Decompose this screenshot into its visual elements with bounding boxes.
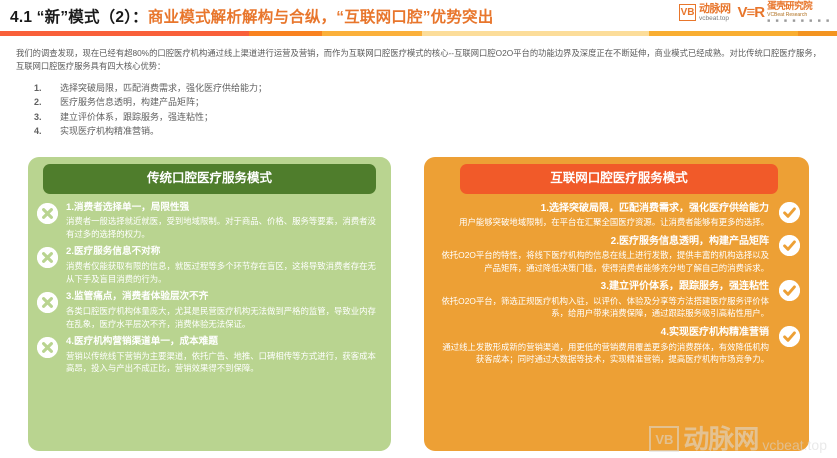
logo-vbresearch: V≡R 蛋壳研究院 VCBeat Research ■ ■ ■ ■ ■ ■ ■ … bbox=[738, 2, 831, 24]
item-body-text: 通过线上发散形成新的营销渠道，用更低的营销费用覆盖更多的消费群体，有效降低机构获… bbox=[436, 341, 769, 366]
list-item: 4.实现医疗机构精准营销通过线上发散形成新的营销渠道，用更低的营销费用覆盖更多的… bbox=[424, 322, 809, 368]
intro-numbered-list: 1.选择突破局限，匹配消费需求，强化医疗供给能力；2.医疗服务信息透明，构建产品… bbox=[34, 81, 837, 139]
item-body-text: 营销以传统线下营销为主要渠道，依托广告、地推、口碑相传等方式进行，获客成本高昂，… bbox=[66, 350, 379, 375]
list-item-number: 4. bbox=[34, 124, 60, 139]
logo-vcbeat: VB 动脉网 vcbeat.top bbox=[679, 4, 731, 23]
color-bar-segment-6 bbox=[798, 31, 837, 36]
item-heading: 1.选择突破局限，匹配消费需求，强化医疗供给能力 bbox=[436, 202, 769, 216]
cross-circle-icon bbox=[37, 247, 58, 268]
item-status-icon bbox=[37, 203, 58, 224]
item-status-icon bbox=[37, 247, 58, 268]
list-item: 3.建立评价体系，跟踪服务，强连粘性； bbox=[34, 110, 837, 125]
page-title-number: 4.1 bbox=[10, 9, 32, 26]
page-header: 4.1 “新”模式（2）：商业模式解析解构与合纵，“互联网口腔”优势突出 VB … bbox=[0, 0, 837, 31]
list-item: 2.医疗服务信息透明，构建产品矩阵依托O2O平台的特性，将线下医疗机构的信息在线… bbox=[424, 231, 809, 277]
panel-traditional-items: 1.消费者选择单一，局限性强消费者一般选择就近就医，受到地域限制。对于商品、价格… bbox=[28, 194, 391, 377]
item-heading: 3.建立评价体系，跟踪服务，强连粘性 bbox=[436, 280, 769, 294]
logo-vbresearch-cn: 蛋壳研究院 bbox=[767, 2, 831, 12]
check-circle-icon bbox=[779, 235, 800, 256]
color-bar-segment-1 bbox=[0, 31, 249, 36]
item-heading: 4.医疗机构营销渠道单一，成本难题 bbox=[66, 336, 379, 349]
color-bar-segment-3 bbox=[322, 31, 422, 36]
item-body-text: 消费者一般选择就近就医，受到地域限制。对于商品、价格、服务等要素，消费者没有过多… bbox=[66, 215, 379, 240]
ver-logo-icon: V≡R bbox=[738, 5, 765, 20]
color-bar-segment-2 bbox=[249, 31, 322, 36]
item-status-icon bbox=[779, 280, 800, 301]
panel-traditional: 传统口腔医疗服务模式 1.消费者选择单一，局限性强消费者一般选择就近就医，受到地… bbox=[28, 157, 391, 451]
logo-vbresearch-dots: ■ ■ ■ ■ ■ ■ ■ ■ bbox=[767, 19, 831, 24]
item-heading: 3.监管痛点，消费者体验层次不齐 bbox=[66, 291, 379, 304]
list-item: 1.选择突破局限，匹配消费需求，强化医疗供给能力用户能够突破地域限制，在平台在汇… bbox=[424, 198, 809, 231]
logo-vbresearch-text: 蛋壳研究院 VCBeat Research ■ ■ ■ ■ ■ ■ ■ ■ bbox=[767, 2, 831, 24]
vb-logo-icon: VB bbox=[679, 4, 696, 21]
check-circle-icon bbox=[779, 202, 800, 223]
item-status-icon bbox=[37, 292, 58, 313]
panel-traditional-title: 传统口腔医疗服务模式 bbox=[43, 164, 376, 194]
logo-vbresearch-en: VCBeat Research bbox=[767, 13, 831, 18]
list-item-text: 实现医疗机构精准营销。 bbox=[60, 124, 159, 139]
item-status-icon bbox=[779, 326, 800, 347]
panel-internet-title: 互联网口腔医疗服务模式 bbox=[460, 164, 778, 194]
intro-paragraph: 我们的调查发现，现在已经有超80%的口腔医疗机构通过线上渠道进行运营及营销，而作… bbox=[16, 47, 821, 73]
item-body-text: 消费者仅能获取有限的信息，就医过程等多个环节存在盲区，这将导致消费者存在无从下手… bbox=[66, 260, 379, 285]
color-bar-segment-4 bbox=[422, 31, 650, 36]
list-item: 3.建立评价体系，跟踪服务，强连粘性依托O2O平台，筛选正规医疗机构入驻，以评价… bbox=[424, 276, 809, 322]
panel-internet: 互联网口腔医疗服务模式 1.选择突破局限，匹配消费需求，强化医疗供给能力用户能够… bbox=[424, 157, 809, 451]
list-item-text: 医疗服务信息透明，构建产品矩阵； bbox=[60, 95, 204, 110]
list-item-text: 选择突破局限，匹配消费需求，强化医疗供给能力； bbox=[60, 81, 267, 96]
item-status-icon bbox=[37, 337, 58, 358]
item-status-icon bbox=[779, 235, 800, 256]
item-body-text: 用户能够突破地域限制，在平台在汇聚全国医疗资源。让消费者能够有更多的选择。 bbox=[436, 216, 769, 229]
list-item-number: 3. bbox=[34, 110, 60, 125]
cross-circle-icon bbox=[37, 292, 58, 313]
list-item: 4.实现医疗机构精准营销。 bbox=[34, 124, 837, 139]
list-item: 3.监管痛点，消费者体验层次不齐各类口腔医疗机构体量庞大，尤其是民营医疗机构无法… bbox=[28, 287, 391, 332]
check-circle-icon bbox=[779, 280, 800, 301]
list-item: 4.医疗机构营销渠道单一，成本难题营销以传统线下营销为主要渠道，依托广告、地推、… bbox=[28, 332, 391, 377]
page-title-subtitle: 商业模式解析解构与合纵，“互联网口腔”优势突出 bbox=[148, 9, 494, 26]
item-heading: 1.消费者选择单一，局限性强 bbox=[66, 202, 379, 215]
list-item-number: 2. bbox=[34, 95, 60, 110]
logo-vcbeat-en: vcbeat.top bbox=[699, 16, 731, 23]
cross-circle-icon bbox=[37, 203, 58, 224]
item-body-text: 各类口腔医疗机构体量庞大，尤其是民营医疗机构无法做到严格的监管，导致业内存在乱象… bbox=[66, 305, 379, 330]
item-heading: 2.医疗服务信息透明，构建产品矩阵 bbox=[436, 235, 769, 249]
brand-logos: VB 动脉网 vcbeat.top V≡R 蛋壳研究院 VCBeat Resea… bbox=[679, 2, 831, 24]
list-item: 1.选择突破局限，匹配消费需求，强化医疗供给能力； bbox=[34, 81, 837, 96]
page-title: 4.1 “新”模式（2）：商业模式解析解构与合纵，“互联网口腔”优势突出 bbox=[10, 5, 493, 27]
list-item: 1.消费者选择单一，局限性强消费者一般选择就近就医，受到地域限制。对于商品、价格… bbox=[28, 198, 391, 243]
item-heading: 4.实现医疗机构精准营销 bbox=[436, 326, 769, 340]
list-item-number: 1. bbox=[34, 81, 60, 96]
page-title-main: “新”模式（2）： bbox=[37, 9, 148, 26]
item-status-icon bbox=[779, 202, 800, 223]
logo-vcbeat-text: 动脉网 vcbeat.top bbox=[699, 4, 731, 23]
list-item-text: 建立评价体系，跟踪服务，强连粘性； bbox=[60, 110, 213, 125]
list-item: 2.医疗服务信息透明，构建产品矩阵； bbox=[34, 95, 837, 110]
item-body-text: 依托O2O平台，筛选正规医疗机构入驻，以评价、体验及分享等方法搭建医疗服务评价体… bbox=[436, 295, 769, 320]
cross-circle-icon bbox=[37, 337, 58, 358]
item-body-text: 依托O2O平台的特性，将线下医疗机构的信息在线上进行发散，提供丰富的机构选择以及… bbox=[436, 249, 769, 274]
check-circle-icon bbox=[779, 326, 800, 347]
logo-vcbeat-cn: 动脉网 bbox=[699, 4, 731, 15]
panel-internet-items: 1.选择突破局限，匹配消费需求，强化医疗供给能力用户能够突破地域限制，在平台在汇… bbox=[424, 194, 809, 368]
item-heading: 2.医疗服务信息不对称 bbox=[66, 246, 379, 259]
comparison-panels: 传统口腔医疗服务模式 1.消费者选择单一，局限性强消费者一般选择就近就医，受到地… bbox=[0, 157, 837, 458]
list-item: 2.医疗服务信息不对称消费者仅能获取有限的信息，就医过程等多个环节存在盲区，这将… bbox=[28, 242, 391, 287]
header-color-bar bbox=[0, 31, 837, 36]
color-bar-segment-5 bbox=[649, 31, 798, 36]
